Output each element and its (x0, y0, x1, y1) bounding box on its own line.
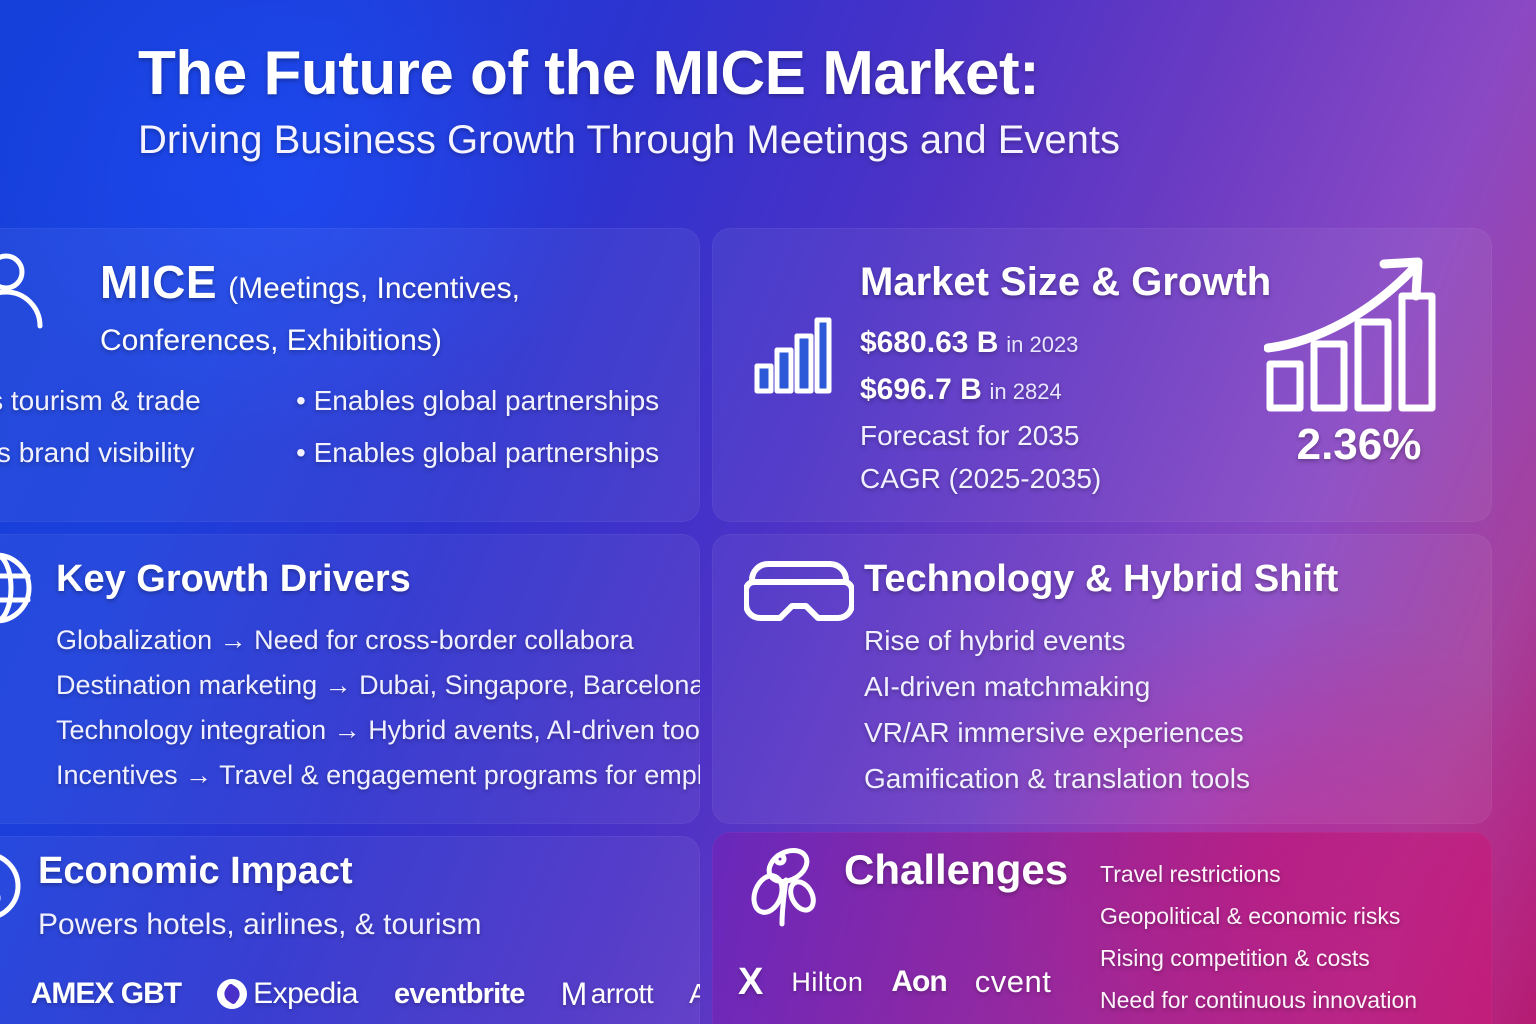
expedia-logo: Expedia (217, 977, 358, 1011)
list-item: Travel restrictions (1100, 854, 1480, 896)
marriott-logo: M arrott (561, 976, 654, 1013)
cvent-logo: cvent (975, 964, 1052, 1000)
list-item: rives tourism & trade (0, 380, 296, 422)
list-item: Rise of hybrid events (864, 618, 1464, 664)
growth-arrow-chart-icon (1264, 252, 1444, 412)
marriott-mark-icon: M (561, 976, 587, 1013)
card-title-challenges: Challenges (844, 846, 1068, 894)
marriott-logo-label: arrott (591, 978, 653, 1010)
drivers-list: Globalization → Need for cross-border co… (56, 618, 700, 798)
vr-headset-icon (744, 556, 854, 634)
list-item: • Enables global partnerships (296, 432, 700, 474)
infographic-canvas: The Future of the MICE Market: Driving B… (0, 0, 1536, 1024)
challenges-logo-strip: X Hilton Aon cvent (738, 952, 1078, 1012)
list-item: Destination marketing → Dubai, Singapore… (56, 663, 700, 708)
accor-logo: ACCOR (689, 978, 700, 1010)
card-title-economic: Economic Impact (38, 850, 353, 893)
list-item: AI-driven matchmaking (864, 664, 1464, 710)
card-title-drivers: Key Growth Drivers (56, 558, 411, 601)
stat-note: in 2023 (1006, 332, 1078, 357)
growth-visual: 2.36% (1264, 252, 1470, 502)
list-item: VR/AR immersive experiences (864, 710, 1464, 756)
card-title-market: Market Size & Growth (860, 260, 1271, 305)
market-stat-list: $680.63 B in 2023 $696.7 B in 2824 Forec… (860, 320, 1300, 501)
eventbrite-logo-label: eventbrite (394, 978, 525, 1011)
list-item: • Enables global partnerships (296, 380, 700, 422)
mice-expansion-line1: (Meetings, Incentives, (228, 272, 520, 305)
mice-expansion-line2: Conferences, Exhibitions) (100, 324, 442, 357)
list-item: Gamification & translation tools (864, 756, 1464, 802)
accor-logo-label: ACCOR (689, 978, 700, 1010)
amex-gbt-logo-label: AMEX GBT (31, 977, 181, 1011)
list-item: Need for continuous innovation (1100, 980, 1480, 1022)
economic-subtitle: Powers hotels, airlines, & tourism (38, 908, 482, 942)
stat-row: Forecast for 2035 (860, 414, 1300, 458)
bar-chart-icon (754, 316, 832, 394)
hilton-logo: Hilton (791, 967, 863, 998)
card-key-growth-drivers: Key Growth Drivers Globalization → Need … (0, 534, 700, 824)
card-title-technology: Technology & Hybrid Shift (864, 558, 1338, 601)
technology-list: Rise of hybrid events AI-driven matchmak… (864, 618, 1464, 802)
page-title: The Future of the MICE Market: (138, 42, 1398, 105)
people-group-icon (0, 250, 46, 342)
mice-bullet-list: rives tourism & trade • Enables global p… (0, 380, 700, 474)
card-technology-hybrid-shift: Technology & Hybrid Shift Rise of hybrid… (712, 534, 1492, 824)
list-item: Rising competition & costs (1100, 938, 1480, 980)
aon-logo-label: Aon (891, 965, 946, 999)
amex-gbt-logo: AMEX GBT (31, 977, 181, 1011)
mice-heading: MICE (Meetings, Incentives, Conferences,… (100, 254, 680, 362)
card-mice: MICE (Meetings, Incentives, Conferences,… (0, 228, 700, 522)
stat-row: $680.63 B in 2023 (860, 320, 1300, 367)
stat-note: in 2824 (990, 379, 1062, 404)
stat-value: $696.7 B (860, 373, 982, 406)
stat-value: $680.63 B (860, 326, 998, 359)
mice-acronym: MICE (100, 256, 217, 308)
list-item: Geopolitical & economic risks (1100, 896, 1480, 938)
challenges-list: Travel restrictions Geopolitical & econo… (1100, 854, 1480, 1021)
dollar-circle-icon (0, 848, 32, 924)
expedia-mark-icon (217, 979, 247, 1009)
cvent-logo-label: cvent (975, 964, 1052, 1000)
list-item: Technology integration → Hybrid avents, … (56, 708, 700, 753)
flower-sprout-icon (748, 846, 822, 930)
header: The Future of the MICE Market: Driving B… (138, 42, 1398, 161)
hilton-mark-logo-label: X (738, 961, 763, 1004)
card-grid: MICE (Meetings, Incentives, Conferences,… (0, 228, 1492, 1024)
card-challenges: Challenges Travel restrictions Geopoliti… (712, 832, 1492, 1024)
stat-row: CAGR (2025-2035) (860, 457, 1300, 501)
stat-row: $696.7 B in 2824 (860, 367, 1300, 414)
hilton-logo-label: Hilton (791, 967, 863, 998)
card-economic-impact: Economic Impact Powers hotels, airlines,… (0, 836, 700, 1024)
card-market-size: Market Size & Growth $680.63 B in 2023 $… (712, 228, 1492, 522)
globe-icon (0, 550, 34, 626)
aon-logo: Aon (891, 965, 946, 999)
list-item: oosts brand visibility (0, 432, 296, 474)
list-item: Globalization → Need for cross-border co… (56, 618, 700, 663)
growth-percent: 2.36% (1264, 420, 1454, 470)
expedia-logo-label: Expedia (253, 977, 358, 1011)
list-item: Incentives → Travel & engagement program… (56, 753, 700, 798)
hilton-mark-logo: X (738, 961, 763, 1004)
eventbrite-logo: eventbrite (394, 978, 525, 1011)
page-subtitle: Driving Business Growth Through Meetings… (138, 119, 1398, 161)
economic-logo-strip: rma AMEX GBT Expedia eventbrite M arrot (0, 964, 688, 1024)
